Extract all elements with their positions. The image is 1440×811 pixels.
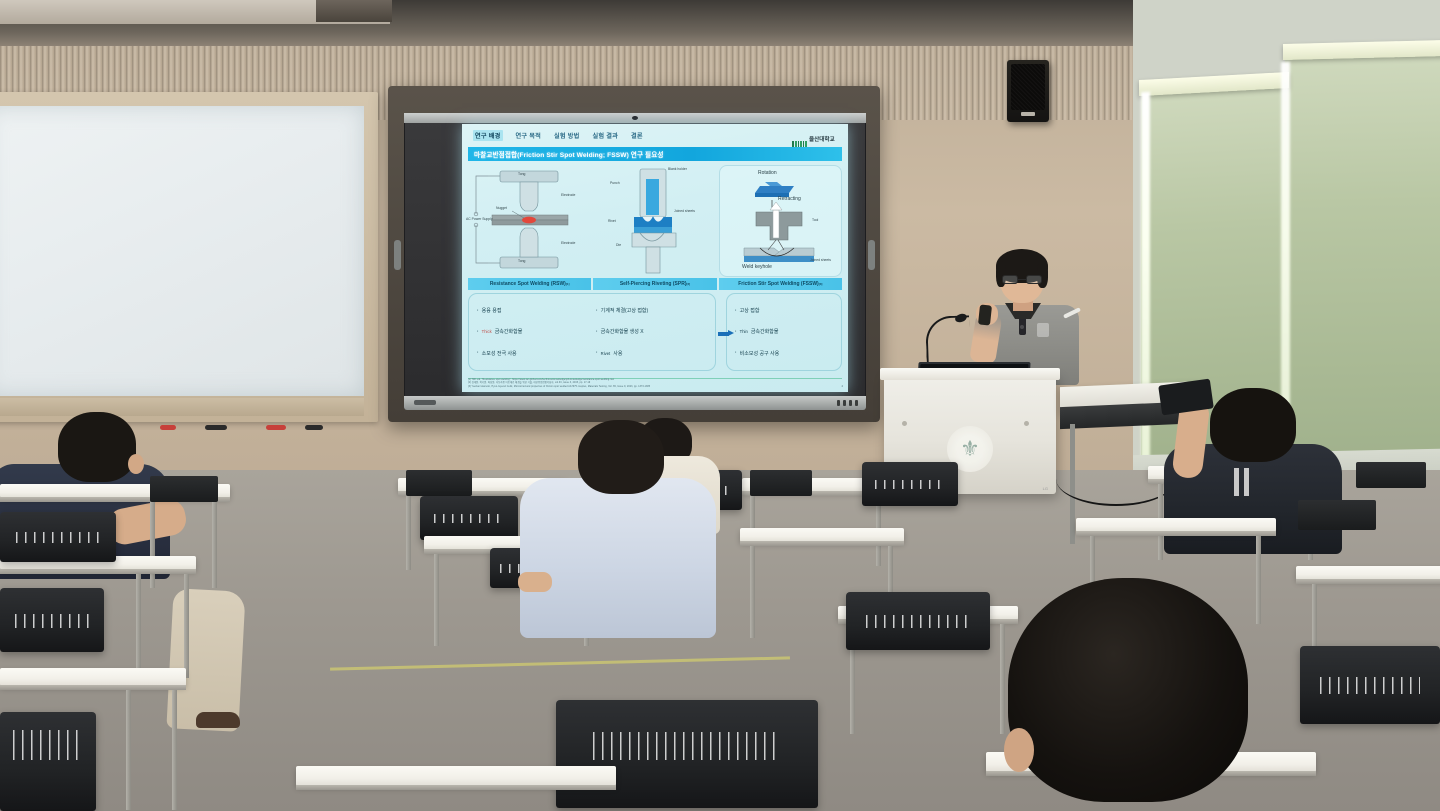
display-power-button[interactable] [414,400,436,405]
bullet-fssw-0-text: 고상 접합 [740,307,760,314]
slide-nav-item-1[interactable]: 연구 목적 [516,131,542,140]
bullet-spr-1-text: 금속간화합물 생성 X [601,328,644,335]
rsw-schematic-icon [468,165,592,277]
arrow-right-icon [718,330,734,337]
bullet-box-left: ·용융 용접 ·Thick금속간화합물 ·소모성 전극 사용 ·기계적 체결(고… [468,293,716,371]
spr-label-punch: Punch [610,181,620,185]
classroom-chair[interactable] [846,592,990,650]
audience-leg [166,588,245,732]
audience-head [1008,578,1248,802]
bullet-col-spr: ·기계적 체결(고상 접합) ·금속간화합물 생성 X ·Rivet사용 [592,300,711,364]
logo-name-ko: 울산대학교 [809,137,835,143]
desk-monitor[interactable] [406,470,472,496]
display-top-rail [404,113,866,123]
presentation-slide[interactable]: 연구 배경 연구 목적 실험 방법 실험 결과 결론 울산대학교 UNIVERS… [462,124,848,392]
clicker-remote[interactable] [978,304,992,325]
bullet-rsw-0: ·용융 용접 [473,307,592,314]
diagram-fssw: Rotation Retracting Tool Weld keyhole Jo… [719,165,842,277]
slide-references: [1] TWI Ltd, "Resistance spot welding", … [468,379,842,389]
diagram-row: Tong Electrode Nugget AC Power Supply To… [468,165,842,277]
audience-head [58,412,136,482]
whiteboard-surface [0,106,364,396]
lectern-brand-label: LG [1043,486,1048,491]
bullet-rsw-2: ·소모성 전극 사용 [473,350,592,357]
wall-speaker [1007,60,1049,122]
audience-member-foreground [1008,578,1248,811]
reference-2: [3] Yuehan Iwamoto, Hyun-Gyeoul Celik, M… [468,386,842,389]
desk-monitor[interactable] [1298,500,1376,530]
classroom-chair[interactable] [0,588,104,652]
caption-spr: Self-Piercing Riveting (SPR)[2] [593,278,716,290]
bullet-spr-1: ·금속간화합물 생성 X [592,328,711,335]
presenter-shirt-button-2 [1020,325,1024,329]
caption-row: Resistance Spot Welding (RSW)[1] Self-Pi… [468,278,842,290]
gooseneck-microphone-stand [925,315,971,369]
spr-label-joined-sheets: Joined sheets [674,209,695,213]
black-marker-2[interactable] [305,425,323,430]
bullets-row: ·용융 용접 ·Thick금속간화합물 ·소모성 전극 사용 ·기계적 체결(고… [468,293,842,371]
classroom-chair[interactable] [420,496,518,540]
bullet-fssw-1-pre: Thin [740,329,748,334]
classroom-chair[interactable] [556,700,818,808]
speaker-badge [1021,112,1035,116]
caption-rsw-ref: [1] [566,282,570,286]
display-control-buttons[interactable] [837,400,858,406]
audience-head [1210,388,1296,462]
slide-nav: 연구 배경 연구 목적 실험 방법 실험 결과 결론 [462,124,848,146]
bullet-box-right: ·고상 접합 ·Thin금속간화합물 ·비소모성 공구 사용 [726,293,842,371]
slide-page-number: 4 [841,384,843,388]
audience-torso [520,478,716,638]
whiteboard [0,92,378,422]
slide-nav-item-2[interactable]: 실험 방법 [554,131,580,140]
spr-label-die: Die [616,243,621,247]
speaker-grille-icon [1011,64,1045,110]
bullet-spr-2-pre: Rivet [601,351,611,356]
red-marker-2[interactable] [266,425,286,430]
bullet-rsw-2-text: 소모성 전극 사용 [482,350,517,357]
spr-label-rivet: Rivet [608,219,616,223]
bullet-fssw-2-text: 비소모성 공구 사용 [740,350,780,357]
ceiling-projector-mount [316,0,392,22]
bullet-spr-0-text: 기계적 체결(고상 접합) [601,307,649,314]
bullet-spr-2: ·Rivet사용 [592,350,711,357]
slide-title: 마찰교반점접합(Friction Stir Spot Welding; FSSW… [468,147,842,161]
classroom-chair[interactable] [0,512,116,562]
presenter-shirt-emblem [1037,323,1049,337]
fssw-label-weld-keyhole: Weld keyhole [742,264,772,270]
caption-spr-ref: [2] [687,282,691,286]
display-bottom-rail [404,396,866,410]
audience-shirt-stripe-1 [1234,468,1239,496]
bullet-spr-0: ·기계적 체결(고상 접합) [592,307,711,314]
spr-label-blank-holder: Blank holder [668,167,687,171]
bullet-rsw-1-pre: Thick [482,329,492,334]
caption-rsw-text: Resistance Spot Welding (RSW) [490,281,566,287]
caption-fssw-ref: [3] [819,282,823,286]
rsw-label-power-supply: AC Power Supply [466,217,493,221]
slide-nav-item-4[interactable]: 결론 [631,131,643,140]
rsw-label-electrode-bottom: Electrode [561,241,575,245]
bullet-fssw-0: ·고상 접합 [731,307,837,314]
audience-shirt-stripe-2 [1244,468,1249,496]
caption-spr-text: Self-Piercing Riveting (SPR) [620,281,687,287]
rsw-label-nugget: Nugget [496,206,507,210]
lectern-top-surface [880,368,1060,380]
bullet-col-rsw: ·용융 용접 ·Thick금속간화합물 ·소모성 전극 사용 [473,300,592,364]
glasses-icon [1002,275,1042,284]
fssw-label-retracting: Retracting [778,196,801,202]
diagram-spr: Blank holder Punch Joined sheets Rivet D… [592,165,716,277]
lectern-knob-right[interactable] [1024,421,1029,426]
audience-hand [518,572,552,592]
caption-rsw: Resistance Spot Welding (RSW)[1] [468,278,591,290]
desk-monitor[interactable] [1356,462,1426,488]
audience-shoe [196,712,240,728]
display-handle-left [394,240,401,270]
camera-icon [632,116,638,120]
caption-fssw: Friction Stir Spot Welding (FSSW)[3] [719,278,842,290]
bullet-fssw-2: ·비소모성 공구 사용 [731,350,837,357]
diagram-rsw: Tong Electrode Nugget AC Power Supply To… [468,165,592,277]
caption-fssw-text: Friction Stir Spot Welding (FSSW) [738,281,818,287]
desk-monitor[interactable] [150,476,218,502]
fssw-label-tool: Tool [812,218,818,222]
bullet-rsw-0-text: 용융 용접 [482,307,502,314]
audience-head [578,420,664,494]
bullet-fssw-1: ·Thin금속간화합물 [731,328,837,335]
rsw-label-tong-bottom: Tong [518,259,525,263]
classroom-chair[interactable] [862,462,958,506]
fssw-label-joined-sheets: Joined sheets [810,258,831,262]
audience-ear [1004,728,1034,772]
rsw-label-electrode-top: Electrode [561,193,575,197]
bullet-rsw-1: ·Thick금속간화합물 [473,328,592,335]
classroom-scene: 연구 배경 연구 목적 실험 방법 실험 결과 결론 울산대학교 UNIVERS… [0,0,1440,811]
classroom-chair[interactable] [0,712,96,811]
display-handle-right [868,240,875,270]
desk-monitor[interactable] [750,470,812,496]
audience-member-light-blue-shirt [520,420,730,720]
slide-nav-item-0[interactable]: 연구 배경 [473,130,503,141]
bullet-rsw-1-text: 금속간화합물 [495,328,523,335]
lectern-knob-left[interactable] [902,421,907,426]
bullet-spr-2-text: 사용 [613,350,622,357]
slide-nav-item-3[interactable]: 실험 결과 [593,131,619,140]
fssw-label-rotation: Rotation [758,170,777,176]
audience-ear [128,454,144,474]
rsw-label-tong-top: Tong [518,172,525,176]
bullet-fssw-1-text: 금속간화합물 [751,328,779,335]
classroom-chair[interactable] [1300,646,1440,724]
